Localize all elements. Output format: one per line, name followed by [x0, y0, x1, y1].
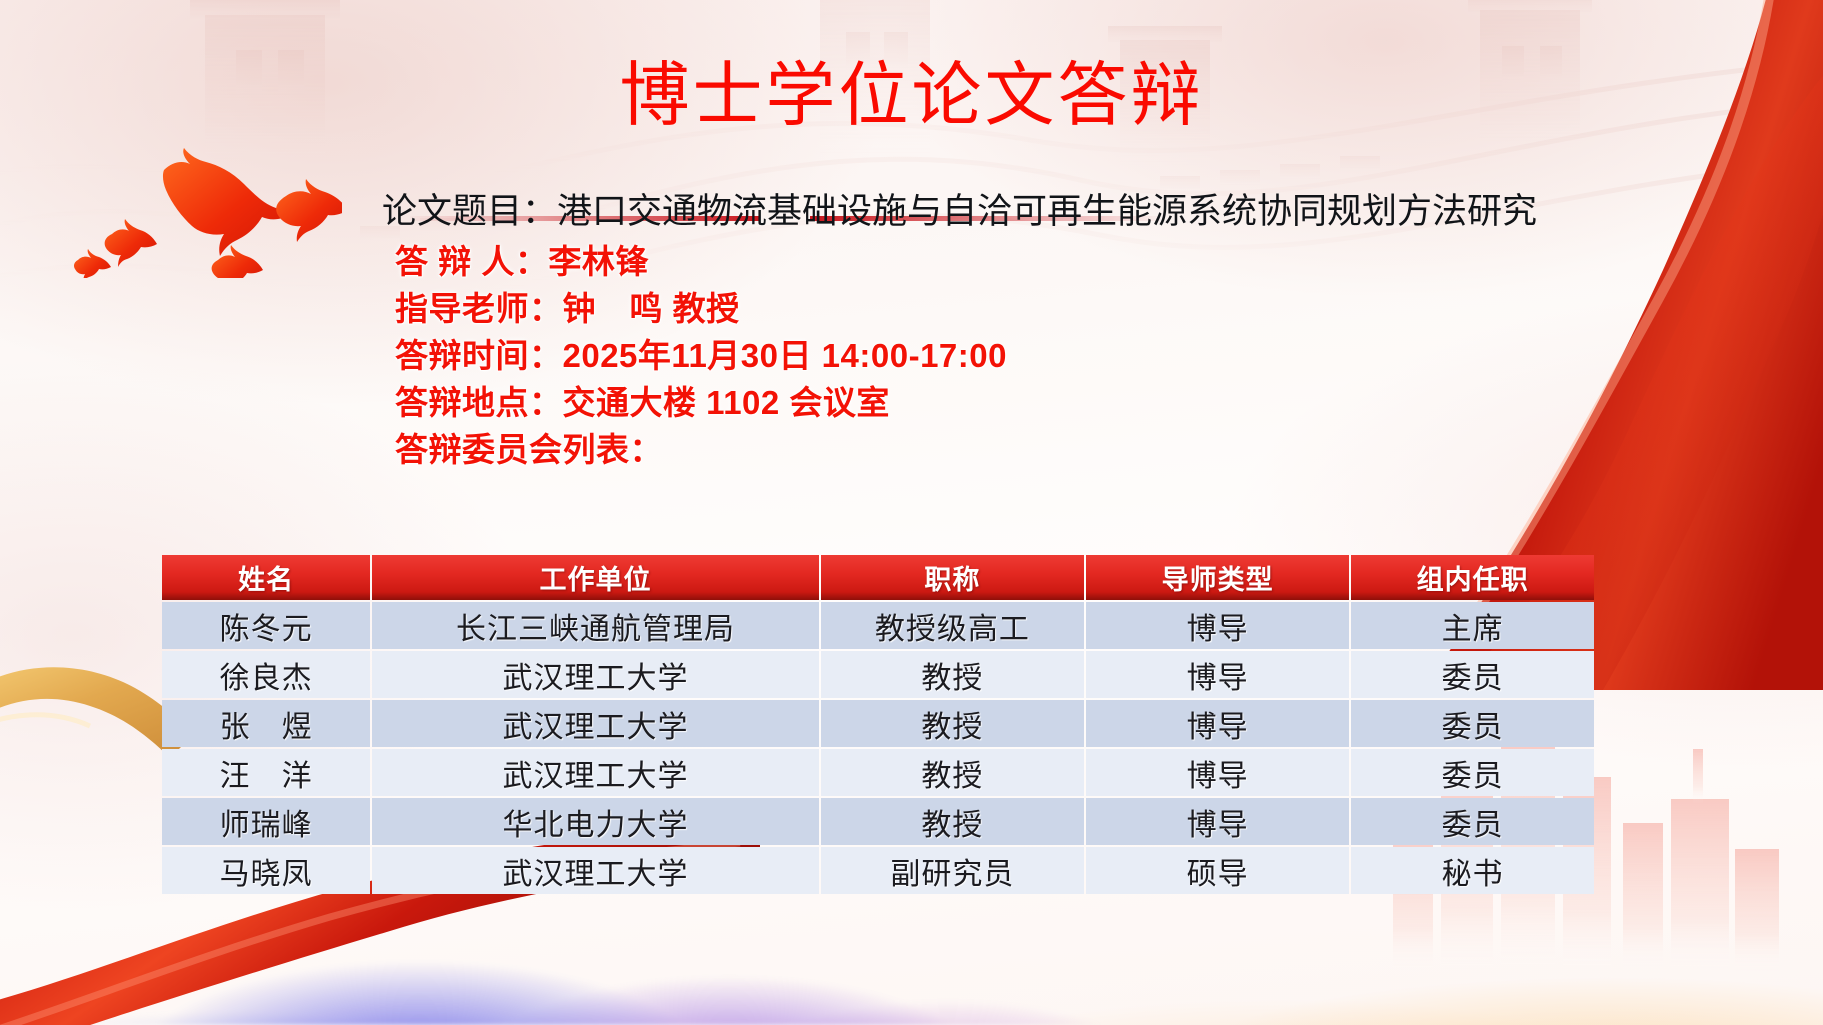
cell-org: 武汉理工大学: [372, 749, 818, 796]
cell-name: 师瑞峰: [162, 798, 370, 845]
info-value-place: 交通大楼 1102 会议室: [563, 384, 890, 421]
table-row: 马晓凤 武汉理工大学 副研究员 硕导 秘书: [162, 847, 1594, 894]
cell-title: 教授: [821, 749, 1084, 796]
cell-org: 长江三峡通航管理局: [372, 602, 818, 649]
cell-type: 博导: [1086, 798, 1349, 845]
cell-name: 陈冬元: [162, 602, 370, 649]
presentation-slide: 博士学位论文答辩 论文题目：港口交通物流基础设施与自洽可再生能源系统协同规划方法…: [0, 0, 1823, 1025]
defense-info-block: 答 辩 人：李林锋 指导老师：钟 鸣 教授 答辩时间：2025年11月30日 1…: [395, 238, 1495, 473]
table-row: 张 煜 武汉理工大学 教授 博导 委员: [162, 700, 1594, 747]
slide-content: 博士学位论文答辩 论文题目：港口交通物流基础设施与自洽可再生能源系统协同规划方法…: [0, 0, 1823, 1025]
column-header-org: 工作单位: [372, 555, 818, 600]
cell-type: 博导: [1086, 700, 1349, 747]
cell-title: 教授级高工: [821, 602, 1084, 649]
committee-table-head: 姓名 工作单位 职称 导师类型 组内任职: [162, 555, 1594, 600]
info-value-time: 2025年11月30日 14:00-17:00: [563, 337, 1007, 374]
info-value-advisor: 钟 鸣 教授: [563, 290, 740, 327]
info-label-advisor: 指导老师：: [395, 290, 563, 327]
cell-role: 秘书: [1351, 847, 1594, 894]
cell-name: 马晓凤: [162, 847, 370, 894]
column-header-role: 组内任职: [1351, 555, 1594, 600]
info-line-committee: 答辩委员会列表：: [395, 426, 1495, 473]
cell-name: 汪 洋: [162, 749, 370, 796]
cell-type: 硕导: [1086, 847, 1349, 894]
column-header-name: 姓名: [162, 555, 370, 600]
table-row: 汪 洋 武汉理工大学 教授 博导 委员: [162, 749, 1594, 796]
cell-role: 委员: [1351, 749, 1594, 796]
info-line-defender: 答 辩 人：李林锋: [395, 238, 1495, 285]
table-row: 徐良杰 武汉理工大学 教授 博导 委员: [162, 651, 1594, 698]
info-value-defender: 李林锋: [548, 243, 649, 280]
cell-title: 教授: [821, 700, 1084, 747]
page-title: 博士学位论文答辩: [0, 55, 1823, 139]
cell-name: 张 煜: [162, 700, 370, 747]
cell-title: 教授: [821, 651, 1084, 698]
info-label-time: 答辩时间：: [395, 337, 563, 374]
info-line-time: 答辩时间：2025年11月30日 14:00-17:00: [395, 332, 1495, 379]
cell-type: 博导: [1086, 651, 1349, 698]
cell-org: 华北电力大学: [372, 798, 818, 845]
cell-title: 教授: [821, 798, 1084, 845]
cell-role: 主席: [1351, 602, 1594, 649]
committee-table: 姓名 工作单位 职称 导师类型 组内任职 陈冬元 长江三峡通航管理局 教授级高工…: [160, 553, 1596, 896]
cell-org: 武汉理工大学: [372, 700, 818, 747]
cell-name: 徐良杰: [162, 651, 370, 698]
column-header-title: 职称: [821, 555, 1084, 600]
cell-org: 武汉理工大学: [372, 651, 818, 698]
info-label-defender: 答 辩 人：: [395, 243, 548, 280]
info-line-place: 答辩地点：交通大楼 1102 会议室: [395, 379, 1495, 426]
cell-role: 委员: [1351, 798, 1594, 845]
cell-role: 委员: [1351, 700, 1594, 747]
table-header-row: 姓名 工作单位 职称 导师类型 组内任职: [162, 555, 1594, 600]
cell-type: 博导: [1086, 749, 1349, 796]
column-header-type: 导师类型: [1086, 555, 1349, 600]
committee-table-body: 陈冬元 长江三峡通航管理局 教授级高工 博导 主席 徐良杰 武汉理工大学 教授 …: [162, 602, 1594, 894]
cell-org: 武汉理工大学: [372, 847, 818, 894]
thesis-title-line: 论文题目：港口交通物流基础设施与自洽可再生能源系统协同规划方法研究: [382, 188, 1537, 236]
table-row: 师瑞峰 华北电力大学 教授 博导 委员: [162, 798, 1594, 845]
info-label-place: 答辩地点：: [395, 384, 563, 421]
cell-type: 博导: [1086, 602, 1349, 649]
info-label-committee: 答辩委员会列表：: [395, 431, 663, 468]
cell-title: 副研究员: [821, 847, 1084, 894]
cell-role: 委员: [1351, 651, 1594, 698]
table-row: 陈冬元 长江三峡通航管理局 教授级高工 博导 主席: [162, 602, 1594, 649]
info-line-advisor: 指导老师：钟 鸣 教授: [395, 285, 1495, 332]
